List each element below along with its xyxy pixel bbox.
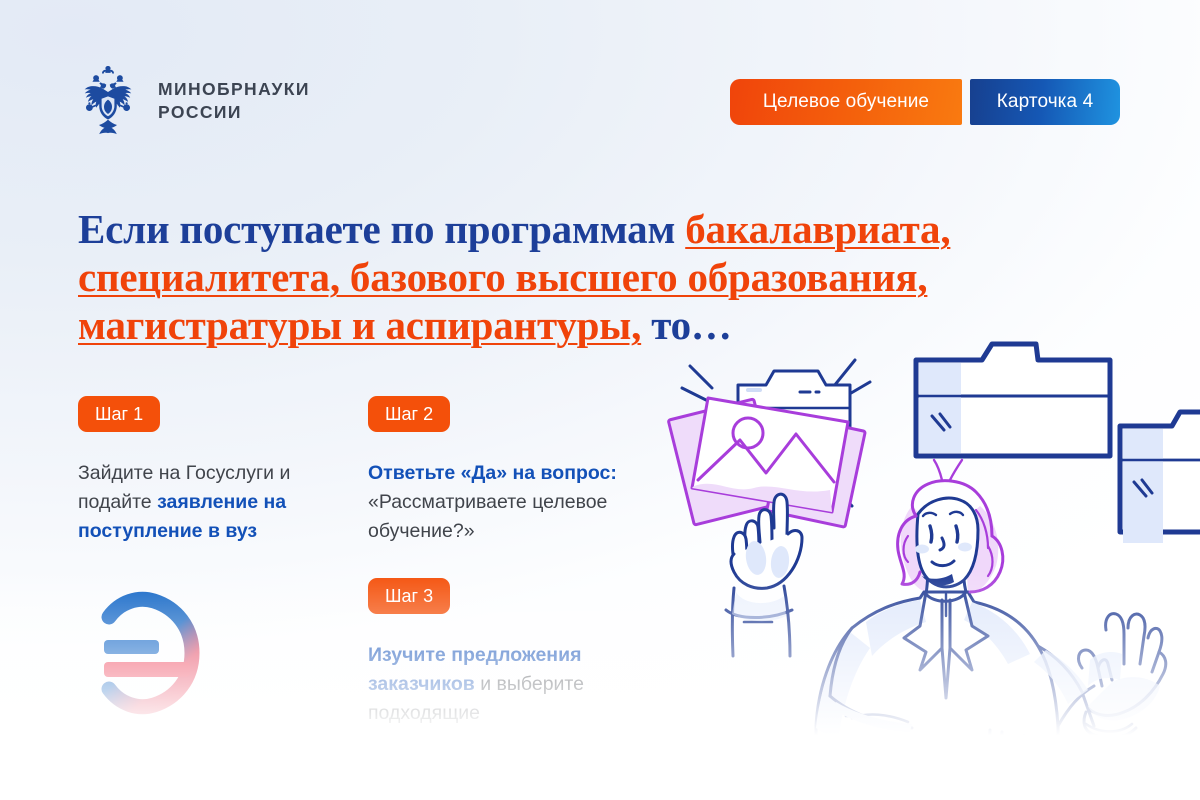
topic-badge-label: Целевое обучение: [763, 91, 929, 113]
step-1-chip: Шаг 1: [78, 396, 160, 432]
step-2-chip-label: Шаг 2: [385, 404, 433, 425]
woman-waving-with-photos-and-folders-illustration: [620, 330, 1200, 800]
step-2-text-part3: «Рассматриваете целевое обучение?»: [368, 491, 607, 542]
card-number-badge: Карточка 4: [970, 79, 1120, 125]
step-1-chip-label: Шаг 1: [95, 404, 143, 425]
step-3-chip-label: Шаг 3: [385, 586, 433, 607]
ministry-brand: МИНОБРНАУКИ РОССИИ: [76, 62, 310, 140]
folder-icon-edge: [1120, 412, 1200, 543]
step-3-chip: Шаг 3: [368, 578, 450, 614]
woman-waving-figure: [816, 460, 1166, 800]
gosuslugi-logo-icon: [80, 590, 216, 716]
ministry-name: МИНОБРНАУКИ РОССИИ: [158, 78, 310, 125]
pointing-hand-icon: [726, 494, 802, 656]
badge-group: Целевое обучение Карточка 4: [730, 79, 1120, 125]
page-title: Если поступаете по программам бакалавриа…: [78, 205, 1058, 349]
folder-icon: [916, 344, 1110, 456]
step-2-text: Ответьте «Да» на вопрос: «Рассматриваете…: [368, 459, 640, 546]
step-3: Шаг 3 Изучите предложения заказчиков и в…: [368, 578, 640, 728]
headline-lead: Если поступаете по программам: [78, 206, 685, 252]
step-1: Шаг 1 Зайдите на Госуслуги и подайте зая…: [78, 396, 328, 546]
topic-badge: Целевое обучение: [730, 79, 962, 125]
step-2-chip: Шаг 2: [368, 396, 450, 432]
step-2-text-emphasis: Ответьте «Да» на вопрос:: [368, 462, 617, 484]
card-number-badge-label: Карточка 4: [997, 91, 1093, 113]
step-2: Шаг 2 Ответьте «Да» на вопрос: «Рассматр…: [368, 396, 640, 546]
step-3-text: Изучите предложения заказчиков и выберит…: [368, 641, 640, 728]
infographic-card: МИНОБРНАУКИ РОССИИ Целевое обучение Карт…: [0, 0, 1200, 800]
russian-coat-of-arms-icon: [76, 62, 140, 140]
step-1-text: Зайдите на Госуслуги и подайте заявление…: [78, 459, 328, 546]
